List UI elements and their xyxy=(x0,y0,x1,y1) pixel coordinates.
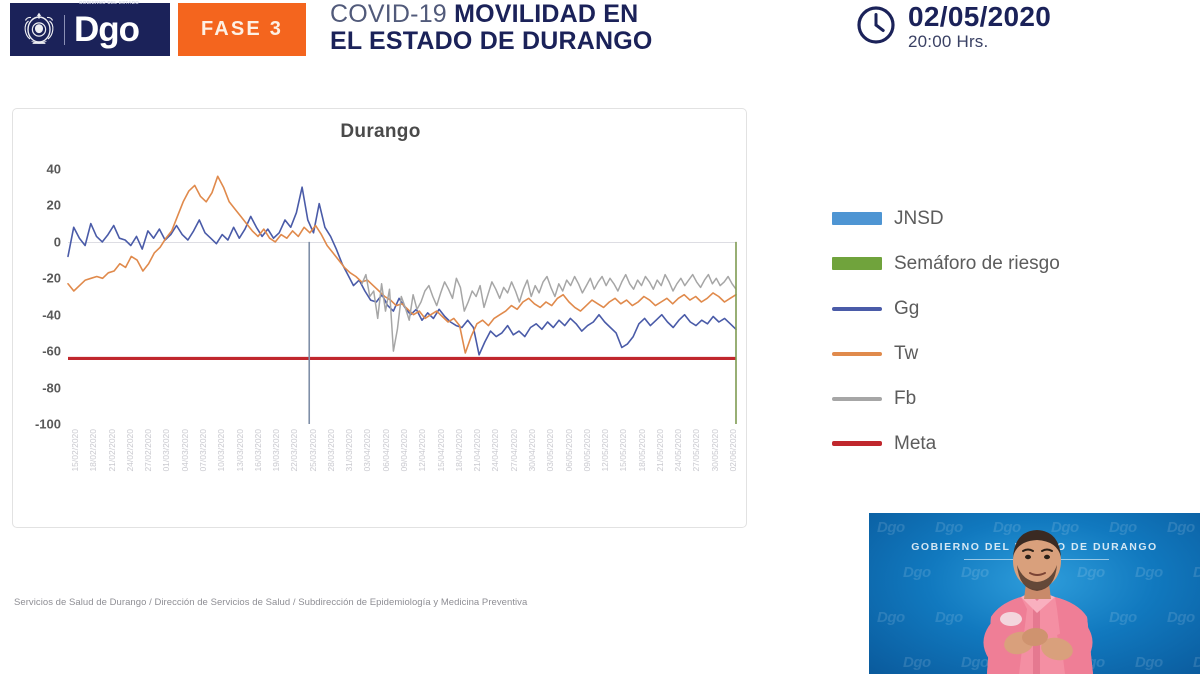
report-date: 02/05/2020 xyxy=(908,3,1051,31)
x-axis-tick: 10/03/2020 xyxy=(216,429,226,472)
y-axis-tick: 40 xyxy=(47,162,61,177)
legend-swatch xyxy=(832,397,882,401)
page-title: COVID-19 MOVILIDAD EN EL ESTADO DE DURAN… xyxy=(330,1,750,55)
logo-divider xyxy=(64,15,65,45)
x-axis-tick: 24/02/2020 xyxy=(125,429,135,472)
legend-label: Semáforo de riesgo xyxy=(894,253,1060,275)
x-axis-tick: 01/03/2020 xyxy=(161,429,171,472)
phase-badge-label: FASE 3 xyxy=(201,18,283,41)
x-axis-tick: 24/05/2020 xyxy=(673,429,683,472)
logo-supertext: GOBIERNO DEL ESTADO xyxy=(79,0,139,5)
title-line-1: COVID-19 MOVILIDAD EN xyxy=(330,1,750,28)
slide-root: GOBIERNO DEL ESTADO Dgo FASE 3 COVID-19 … xyxy=(0,0,1200,674)
x-axis-tick: 28/03/2020 xyxy=(326,429,336,472)
y-axis-tick: 20 xyxy=(47,198,61,213)
coat-of-arms-icon xyxy=(22,12,56,48)
legend-label: Tw xyxy=(894,343,918,365)
legend-swatch xyxy=(832,257,882,270)
phase-badge: FASE 3 xyxy=(178,3,306,56)
x-axis-tick: 30/05/2020 xyxy=(710,429,720,472)
y-axis-tick: -40 xyxy=(42,307,61,322)
x-axis-tick: 03/04/2020 xyxy=(362,429,372,472)
x-axis-tick: 25/03/2020 xyxy=(308,429,318,472)
series-line-gg xyxy=(68,187,736,355)
x-axis-tick: 22/03/2020 xyxy=(289,429,299,472)
logo-wordmark-group: GOBIERNO DEL ESTADO Dgo xyxy=(74,13,139,46)
chart-title: Durango xyxy=(13,121,748,143)
footer-source-note: Servicios de Salud de Durango / Direcció… xyxy=(14,597,527,608)
sign-language-video-inset[interactable]: GOBIERNO DEL ESTADO DE DURANGO DgoDgoDgo… xyxy=(869,513,1200,674)
interpreter-figure xyxy=(869,513,1200,674)
legend-item-meta[interactable]: Meta xyxy=(832,421,1162,466)
x-axis-tick: 07/03/2020 xyxy=(198,429,208,472)
legend-label: Meta xyxy=(894,433,936,455)
x-axis-tick: 02/06/2020 xyxy=(728,429,738,472)
x-axis-tick: 21/05/2020 xyxy=(655,429,665,472)
x-axis-tick: 21/04/2020 xyxy=(472,429,482,472)
clock-icon xyxy=(855,4,897,51)
x-axis-ticks: 15/02/202018/02/202021/02/202024/02/2020… xyxy=(68,429,736,529)
x-axis-tick: 04/03/2020 xyxy=(180,429,190,472)
legend-label: Fb xyxy=(894,388,916,410)
datetime-text: 02/05/2020 20:00 Hrs. xyxy=(908,3,1051,52)
legend-item-jnsd[interactable]: JNSD xyxy=(832,196,1162,241)
x-axis-tick: 18/04/2020 xyxy=(454,429,464,472)
title-line-2: EL ESTADO DE DURANGO xyxy=(330,28,750,55)
x-axis-tick: 31/03/2020 xyxy=(344,429,354,472)
x-axis-tick: 27/05/2020 xyxy=(691,429,701,472)
x-axis-tick: 16/03/2020 xyxy=(253,429,263,472)
x-axis-tick: 15/02/2020 xyxy=(70,429,80,472)
legend-swatch xyxy=(832,441,882,446)
chart-plot-area: 40200-20-40-60-80-100 xyxy=(68,169,736,424)
chart-legend: JNSDSemáforo de riesgoGgTwFbMeta xyxy=(832,196,1162,466)
logo-wordmark: Dgo xyxy=(74,13,139,46)
legend-swatch xyxy=(832,352,882,356)
x-axis-tick: 15/05/2020 xyxy=(618,429,628,472)
report-time: 20:00 Hrs. xyxy=(908,31,1051,52)
mobility-chart-panel: Durango 40200-20-40-60-80-100 15/02/2020… xyxy=(12,108,747,528)
y-axis-tick: -20 xyxy=(42,271,61,286)
x-axis-tick: 18/02/2020 xyxy=(88,429,98,472)
durango-government-logo: GOBIERNO DEL ESTADO Dgo xyxy=(10,3,170,56)
title-prefix: COVID-19 xyxy=(330,0,447,28)
x-axis-tick: 15/04/2020 xyxy=(436,429,446,472)
legend-item-semaforo-de-riesgo[interactable]: Semáforo de riesgo xyxy=(832,241,1162,286)
x-axis-tick: 12/04/2020 xyxy=(417,429,427,472)
legend-item-fb[interactable]: Fb xyxy=(832,376,1162,421)
x-axis-tick: 09/04/2020 xyxy=(399,429,409,472)
datetime-block: 02/05/2020 20:00 Hrs. xyxy=(855,3,1051,52)
x-axis-tick: 06/04/2020 xyxy=(381,429,391,472)
legend-item-gg[interactable]: Gg xyxy=(832,286,1162,331)
x-axis-tick: 03/05/2020 xyxy=(545,429,555,472)
legend-item-tw[interactable]: Tw xyxy=(832,331,1162,376)
series-line-tw xyxy=(68,176,736,353)
y-axis-tick: -100 xyxy=(35,417,61,432)
x-axis-tick: 21/02/2020 xyxy=(107,429,117,472)
title-emphasis: MOVILIDAD EN xyxy=(454,0,638,28)
legend-swatch xyxy=(832,212,882,225)
header-bar: GOBIERNO DEL ESTADO Dgo FASE 3 COVID-19 … xyxy=(0,0,1200,62)
x-axis-tick: 27/04/2020 xyxy=(509,429,519,472)
legend-label: JNSD xyxy=(894,208,944,230)
x-axis-tick: 30/04/2020 xyxy=(527,429,537,472)
y-axis-tick: 0 xyxy=(54,234,61,249)
x-axis-tick: 24/04/2020 xyxy=(490,429,500,472)
x-axis-tick: 06/05/2020 xyxy=(564,429,574,472)
x-axis-tick: 19/03/2020 xyxy=(271,429,281,472)
legend-label: Gg xyxy=(894,298,919,320)
legend-swatch xyxy=(832,307,882,311)
x-axis-tick: 18/05/2020 xyxy=(637,429,647,472)
x-axis-tick: 09/05/2020 xyxy=(582,429,592,472)
y-axis-tick: -60 xyxy=(42,344,61,359)
y-axis-tick: -80 xyxy=(42,380,61,395)
x-axis-tick: 13/03/2020 xyxy=(235,429,245,472)
chart-series-svg xyxy=(68,169,736,424)
x-axis-tick: 12/05/2020 xyxy=(600,429,610,472)
x-axis-tick: 27/02/2020 xyxy=(143,429,153,472)
